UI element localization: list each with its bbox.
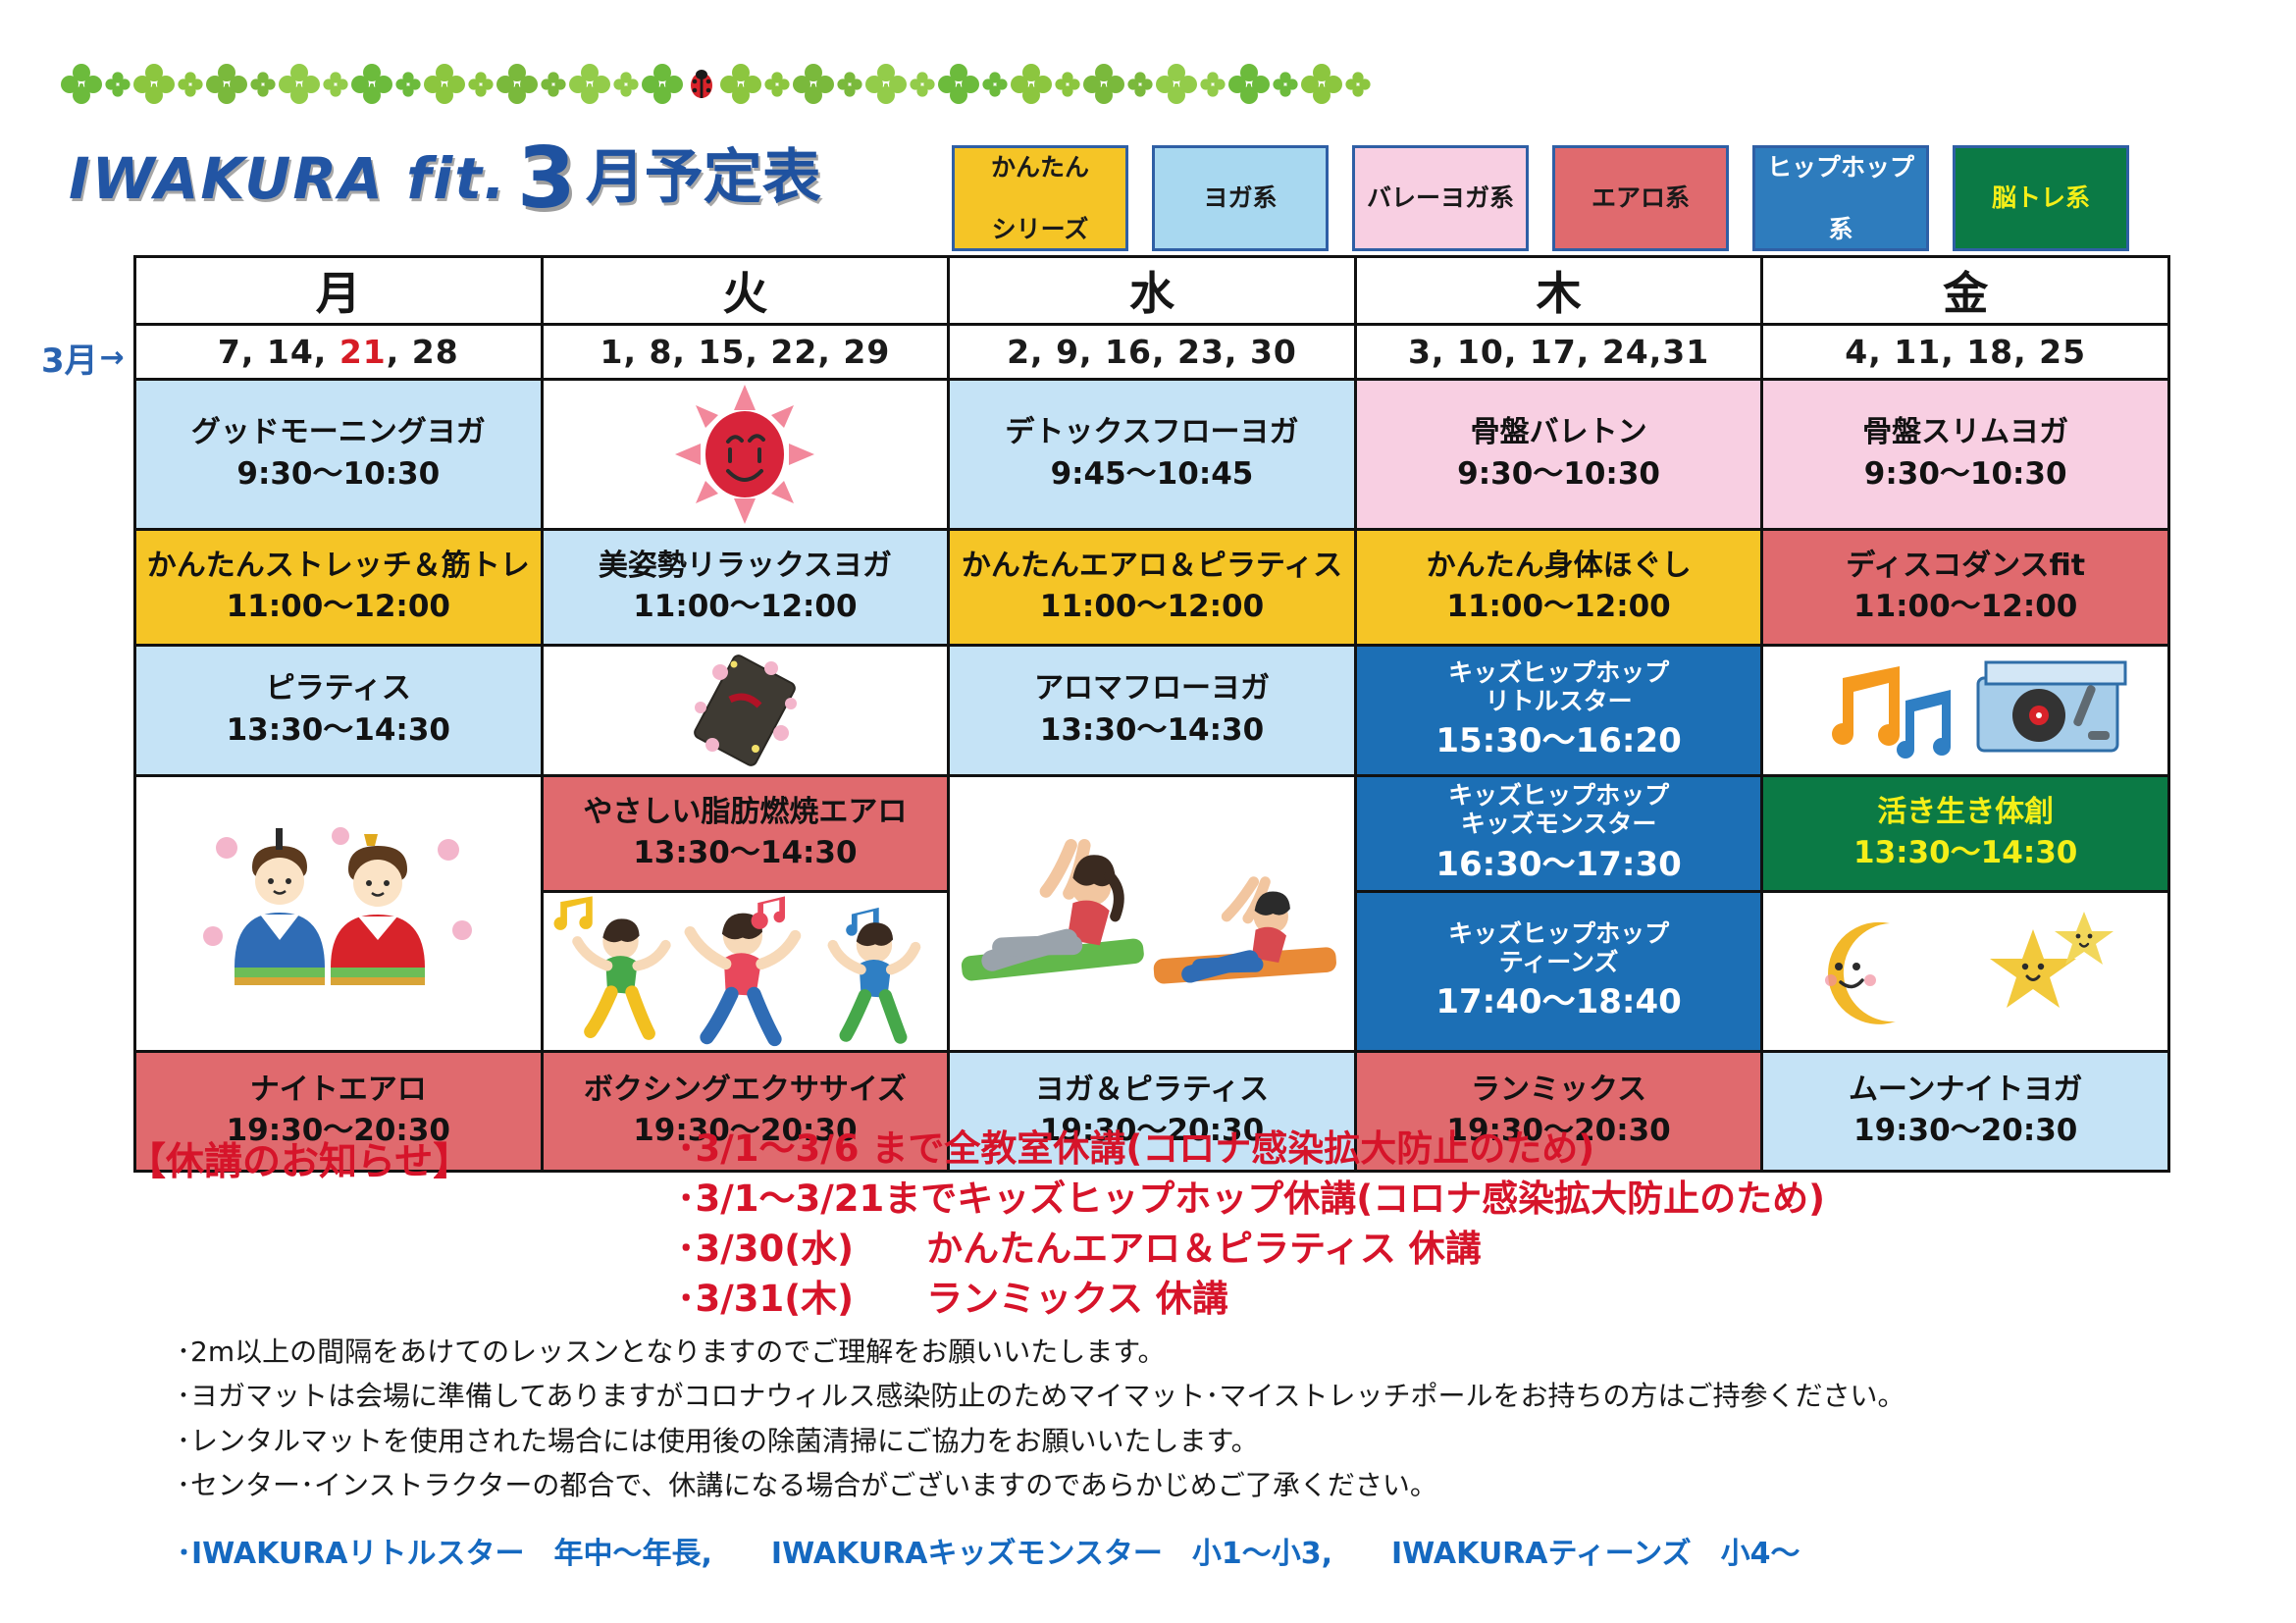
schedule-table: 月火水木金 7, 14, 21, 281, 8, 15, 22, 292, 9,… [133,255,2170,1173]
notice-line-3: ･3/30(水) かんたんエアロ＆ピラティス 休講 [677,1224,1825,1274]
schedule-row-4: やさしい脂肪燃焼エアロ13:30～14:30 キッズヒップ [135,776,2169,892]
notice-line-4: ･3/31(木) ランミックス 休講 [677,1274,1825,1324]
sun-face-illustration [544,381,948,528]
class-name: キッズヒップホップキッズモンスター [1357,782,1761,839]
table-header-daydates: 7, 14, 21, 281, 8, 15, 22, 292, 9, 16, 2… [135,325,2169,380]
footnote-line-2: ･ヨガマットは会場に準備してありますがコロナウィルス感染防止のためマイマット･マ… [177,1374,2257,1418]
schedule-cell-r1c1[interactable]: グッドモーニングヨガ9:30～10:30 [135,380,543,530]
class-time: 11:00～12:00 [1763,589,2167,625]
schedule-cell-r2c2[interactable]: 美姿勢リラックスヨガ11:00～12:00 [542,530,949,646]
schedule-cell-r1c3[interactable]: デトックスフローヨガ9:45～10:45 [949,380,1356,530]
table-header-daynames: 月火水木金 [135,257,2169,325]
class-name: 骨盤バレトン [1357,416,1761,450]
month-arrow-text: 3月 [41,334,98,382]
class-time: 9:45～10:45 [950,456,1354,493]
clover-icon [791,62,836,111]
schedule-cell-r2c5[interactable]: ディスコダンスfit11:00～12:00 [1762,530,2169,646]
legend-label-line: ヨガ系 [1203,183,1277,213]
clover-small-icon [1344,71,1372,102]
clover-small-icon [104,71,131,102]
day-header-2: 火 [542,257,949,325]
class-name: 骨盤スリムヨガ [1763,416,2167,450]
clover-border-decoration [59,59,1285,114]
clover-small-icon [1054,71,1081,102]
schedule-cell-r3c2[interactable] [542,646,949,776]
clover-icon [59,62,104,111]
clover-small-icon [1199,71,1226,102]
notice-heading: 【休講のお知らせ】 [128,1131,471,1186]
highlighted-date: 21 [339,333,387,371]
footnote-line-4: ･センター･インストラクターの都合で、休講になる場合がございますのであらかじめご… [177,1463,2257,1507]
graduation-diploma-illustration [544,647,948,774]
legend-barre-yoga: バレーヨガ系 [1352,145,1529,251]
class-time: 11:00～12:00 [1357,589,1761,625]
clover-small-icon [322,71,349,102]
clover-icon [1299,62,1344,111]
footnote-class-ages: ･IWAKURAリトルスター 年中～年長, IWAKURAキッズモンスター 小1… [177,1529,1800,1572]
notice-line-2: ･3/1～3/21までキッズヒップホップ休講(コロナ感染拡大防止のため) [677,1174,1825,1224]
class-name: キッズヒップホップリトルスター [1357,659,1761,716]
class-name: ディスコダンスfit [1763,550,2167,584]
schedule-cell-r4c5[interactable]: 活き生き体創13:30～14:30 [1762,776,2169,892]
clover-icon [1081,62,1126,111]
clover-icon [567,62,612,111]
clover-icon [422,62,467,111]
class-time: 13:30～14:30 [950,712,1354,749]
class-name: デトックスフローヨガ [950,416,1354,450]
class-time: 15:30～16:20 [1357,721,1761,761]
clover-small-icon [836,71,863,102]
day-dates-5: 4, 11, 18, 25 [1762,325,2169,380]
month-arrow-label: 3月 → [41,334,125,382]
schedule-cell-r2c4[interactable]: かんたん身体ほぐし11:00～12:00 [1355,530,1762,646]
legend-aero: エアロ系 [1552,145,1729,251]
day-dates-1: 7, 14, 21, 28 [135,325,543,380]
schedule-row-2: かんたんストレッチ＆筋トレ11:00～12:00美姿勢リラックスヨガ11:00～… [135,530,2169,646]
clover-icon [204,62,249,111]
ladybug-icon [685,68,718,105]
class-name: 美姿勢リラックスヨガ [544,550,948,584]
footnote-line-1: ･2m以上の間隔をあけてのレッスンとなりますのでご理解をお願いいたします。 [177,1330,2257,1374]
clover-small-icon [394,71,422,102]
schedule-cell-r3c5[interactable] [1762,646,2169,776]
schedule-cell-r5c5[interactable] [1762,892,2169,1052]
legend-label-line: 脳トレ系 [1992,183,2090,213]
clover-icon [349,62,394,111]
class-time: 9:30～10:30 [1763,456,2167,493]
clover-small-icon [612,71,640,102]
clover-icon [863,62,909,111]
day-header-1: 月 [135,257,543,325]
legend-label-line: バレーヨガ系 [1367,183,1514,213]
clover-icon [277,62,322,111]
schedule-cell-r3c4[interactable]: キッズヒップホップリトルスター15:30～16:20 [1355,646,1762,776]
class-name: キッズヒップホップティーンズ [1357,920,1761,977]
legend-brain: 脳トレ系 [1953,145,2129,251]
class-name: ランミックス [1357,1073,1761,1108]
footnotes-block: ･2m以上の間隔をあけてのレッスンとなりますのでご理解をお願いいたします。･ヨガ… [177,1330,2257,1507]
class-name: ヨガ＆ピラティス [950,1073,1354,1108]
schedule-body: グッドモーニングヨガ9:30～10:30 デトックスフローヨガ9:45～10:4… [135,380,2169,1172]
music-notes-turntable-illustration [1763,647,2167,774]
clover-small-icon [249,71,277,102]
schedule-cell-r1c2[interactable] [542,380,949,530]
moon-stars-illustration [1763,893,2167,1050]
brand-title: IWAKURA fit. [69,150,507,207]
class-time: 13:30～14:30 [544,835,948,871]
schedule-cell-r2c1[interactable]: かんたんストレッチ＆筋トレ11:00～12:00 [135,530,543,646]
page-title: 月予定表 [586,148,821,207]
month-number: 3 [517,143,576,215]
schedule-cell-r5c4[interactable]: キッズヒップホップティーンズ17:40～18:40 [1355,892,1762,1052]
schedule-cell-r1c4[interactable]: 骨盤バレトン9:30～10:30 [1355,380,1762,530]
class-name: やさしい脂肪燃焼エアロ [544,796,948,830]
clover-icon [1009,62,1054,111]
clover-icon [640,62,685,111]
class-time: 16:30～17:30 [1357,845,1761,885]
schedule-cell-r5c2[interactable] [542,892,949,1052]
legend-kantan: かんたんシリーズ [952,145,1128,251]
title-block: IWAKURA fit. 3 月予定表 [69,135,821,207]
schedule-cell-r3c3[interactable]: アロマフローヨガ13:30～14:30 [949,646,1356,776]
clover-small-icon [177,71,204,102]
clover-small-icon [540,71,567,102]
class-time: 9:30～10:30 [136,456,541,493]
day-dates-4: 3, 10, 17, 24,31 [1355,325,1762,380]
schedule-cell-r3c1[interactable]: ピラティス13:30～14:30 [135,646,543,776]
legend-label-line: シリーズ [992,214,1089,244]
class-name: ピラティス [136,672,541,707]
clover-small-icon [1272,71,1299,102]
clover-small-icon [981,71,1009,102]
schedule-cell-r2c3[interactable]: かんたんエアロ＆ピラティス11:00～12:00 [949,530,1356,646]
class-time: 9:30～10:30 [1357,456,1761,493]
day-header-5: 金 [1762,257,2169,325]
legend-label-line: ヒップホップ [1767,152,1914,183]
schedule-cell-r4c3[interactable] [949,776,1356,1052]
class-time: 11:00～12:00 [950,589,1354,625]
class-name: ボクシングエクササイズ [544,1073,948,1108]
class-name: ナイトエアロ [136,1073,541,1108]
legend-yoga: ヨガ系 [1152,145,1329,251]
schedule-cell-r4c2[interactable]: やさしい脂肪燃焼エアロ13:30～14:30 [542,776,949,892]
clover-icon [131,62,177,111]
class-name: グッドモーニングヨガ [136,416,541,450]
schedule-cell-r4c1[interactable] [135,776,543,1052]
class-time: 17:40～18:40 [1357,982,1761,1022]
schedule-row-1: グッドモーニングヨガ9:30～10:30 デトックスフローヨガ9:45～10:4… [135,380,2169,530]
class-name: かんたん身体ほぐし [1357,550,1761,584]
clover-icon [718,62,763,111]
clover-small-icon [1126,71,1154,102]
day-header-3: 水 [949,257,1356,325]
clover-small-icon [909,71,936,102]
category-legend: かんたんシリーズヨガ系バレーヨガ系エアロ系ヒップホップ系脳トレ系 [952,145,2129,251]
schedule-cell-r1c5[interactable]: 骨盤スリムヨガ9:30～10:30 [1762,380,2169,530]
notice-list: ･3/1～3/6 まで全教室休講(コロナ感染拡大防止のため)･3/1～3/21ま… [677,1124,1825,1324]
legend-label-line: 系 [1828,214,1852,244]
clover-icon [1226,62,1272,111]
class-time: 11:00～12:00 [544,589,948,625]
arrow-right-icon: → [100,340,125,375]
notice-line-1: ･3/1～3/6 まで全教室休講(コロナ感染拡大防止のため) [677,1124,1825,1174]
hina-dolls-illustration [136,777,541,1050]
class-time: 13:30～14:30 [136,712,541,749]
class-name: かんたんエアロ＆ピラティス [950,550,1354,584]
legend-hiphop: ヒップホップ系 [1752,145,1929,251]
yoga-people-illustration [950,777,1354,1050]
class-name: アロマフローヨガ [950,672,1354,707]
clover-icon [936,62,981,111]
schedule-row-3: ピラティス13:30～14:30 アロマフローヨガ13:30～14:30キッズヒ… [135,646,2169,776]
class-name: かんたんストレッチ＆筋トレ [136,550,541,584]
dancing-kids-illustration [544,893,948,1050]
class-time: 13:30～14:30 [1763,835,2167,871]
schedule-cell-r4c4[interactable]: キッズヒップホップキッズモンスター16:30～17:30 [1355,776,1762,892]
clover-icon [495,62,540,111]
clover-icon [1154,62,1199,111]
day-header-4: 木 [1355,257,1762,325]
footnote-line-3: ･レンタルマットを使用された場合には使用後の除菌清掃にご協力をお願いいたします。 [177,1419,2257,1463]
class-name: 活き生き体創 [1763,796,2167,830]
day-dates-3: 2, 9, 16, 23, 30 [949,325,1356,380]
class-name: ムーンナイトヨガ [1763,1073,2167,1108]
class-time: 11:00～12:00 [136,589,541,625]
clover-small-icon [467,71,495,102]
clover-small-icon [763,71,791,102]
day-dates-2: 1, 8, 15, 22, 29 [542,325,949,380]
legend-label-line: エアロ系 [1592,183,1690,213]
legend-label-line: かんたん [991,152,1089,183]
